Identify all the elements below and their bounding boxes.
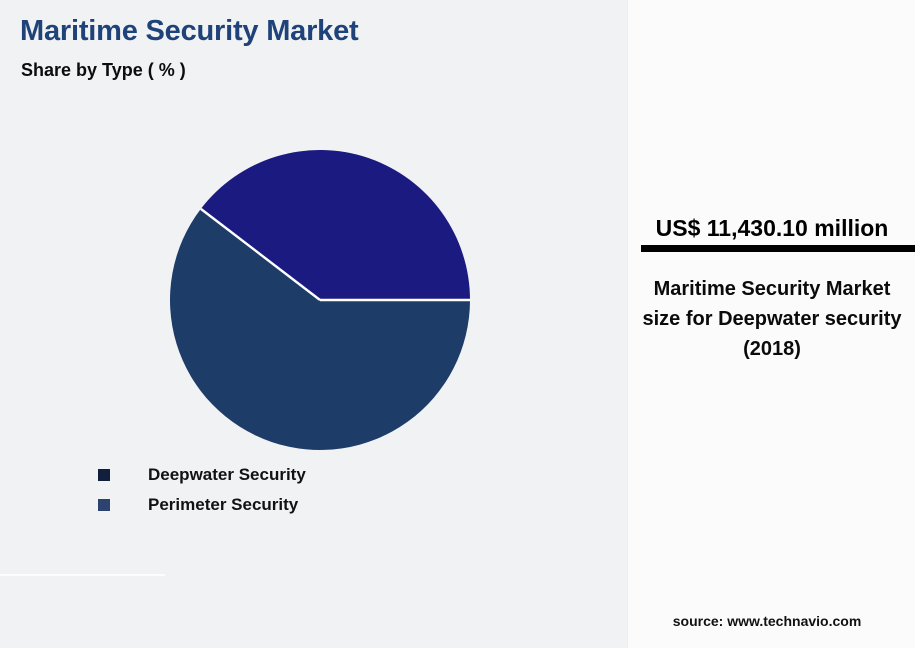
- legend-item-deepwater-security[interactable]: Deepwater Security: [98, 464, 306, 486]
- page-title: Maritime Security Market: [20, 15, 359, 48]
- kpi-value: US$ 11,430.10 million: [628, 215, 915, 242]
- kpi-caption: Maritime Security Market size for Deepwa…: [642, 274, 902, 364]
- chart-legend: Deepwater Security Perimeter Security: [98, 464, 306, 516]
- pie-chart: [170, 150, 470, 450]
- chart-subtitle: Share by Type ( % ): [21, 60, 186, 81]
- kpi-divider: [641, 245, 915, 252]
- pie-chart-svg: [170, 150, 470, 450]
- footer-divider: [0, 574, 165, 576]
- source-attribution: source: www.technavio.com: [628, 613, 906, 629]
- legend-item-label: Deepwater Security: [148, 465, 306, 485]
- legend-swatch-icon: [98, 499, 110, 511]
- kpi-panel: US$ 11,430.10 million Maritime Security …: [627, 0, 915, 648]
- chart-canvas: Maritime Security Market Share by Type (…: [0, 0, 915, 648]
- legend-item-label: Perimeter Security: [148, 495, 298, 515]
- chart-left-panel: Maritime Security Market Share by Type (…: [0, 0, 627, 648]
- legend-item-perimeter-security[interactable]: Perimeter Security: [98, 494, 306, 516]
- legend-swatch-icon: [98, 469, 110, 481]
